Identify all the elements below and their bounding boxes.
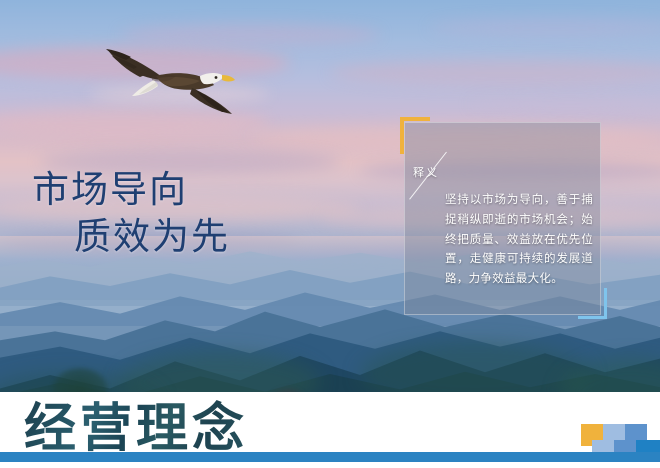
footer-white-strip <box>0 462 660 468</box>
eagle-icon <box>96 36 236 116</box>
headline-line-2: 质效为先 <box>32 213 230 260</box>
corner-bracket-orange-icon <box>400 117 430 154</box>
definition-body-text: 坚持以市场为导向，善于捕捉稍纵即逝的市场机会；始终把质量、效益放在优先位置，走健… <box>445 190 593 289</box>
page-title: 市场导向 质效为先 <box>32 166 230 261</box>
bottom-white-band <box>0 392 660 452</box>
bottom-blue-bar <box>0 452 660 462</box>
cloud-wisp <box>470 96 660 112</box>
slide-canvas: 市场导向 质效为先 释义 坚持以市场为导向，善于捕捉稍纵即逝的市场机会；始终把质… <box>0 0 660 468</box>
corner-bracket-cyan-icon <box>578 288 607 319</box>
headline-line-1: 市场导向 <box>32 168 188 211</box>
